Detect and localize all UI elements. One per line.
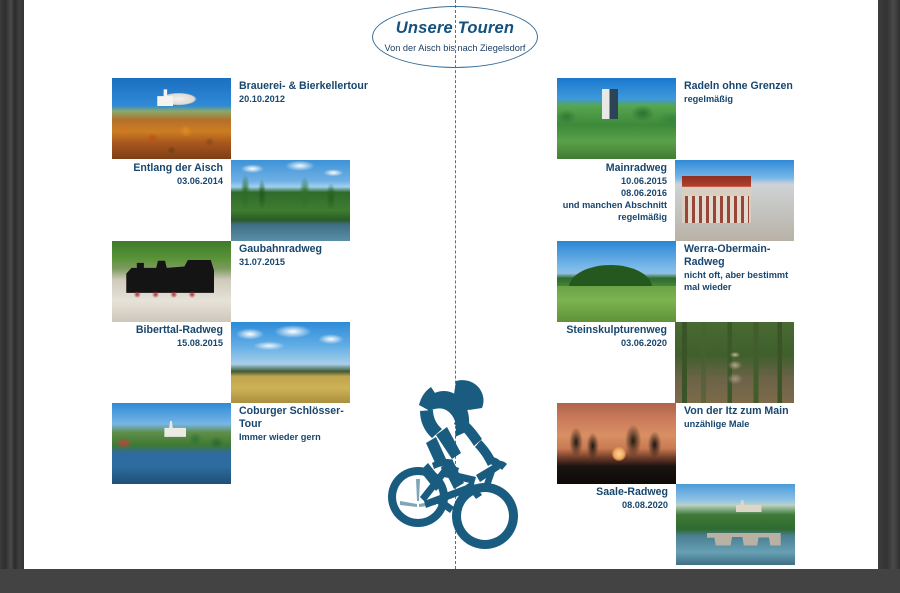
tour-caption: Werra-Obermain- Radweg nicht oft, aber b… [676, 241, 826, 293]
tour-photo-sunset-with-bare-trees [557, 403, 676, 484]
tour-name: Radeln ohne Grenzen [684, 80, 876, 93]
tour-name: Biberttal-Radweg [112, 324, 223, 337]
tour-caption: Von der Itz zum Main unzählige Male [676, 403, 826, 430]
window-bottom-edge [0, 569, 900, 593]
tour-caption: Brauerei- & Bierkellertour 20.10.2012 [231, 78, 431, 105]
tour-entry[interactable]: Steinskulpturenweg 03.06.2020 [535, 322, 794, 403]
tour-entry[interactable]: Biberttal-Radweg 15.08.2015 [112, 322, 350, 403]
tour-photo-river-with-trees [231, 160, 350, 241]
tour-photo-water-tower-on-meadow [557, 78, 676, 159]
tour-entry[interactable]: Mainradweg 10.06.2015 08.06.2016 und man… [439, 160, 794, 241]
tour-note: regelmäßig [684, 93, 876, 105]
mountain-biker-silhouette-icon [384, 371, 524, 557]
tour-photo-forested-hill [557, 241, 676, 322]
document-page: Unsere Touren Von der Aisch bis nach Zie… [24, 0, 878, 569]
tour-note: unzählige Male [684, 418, 826, 430]
tour-caption: Radeln ohne Grenzen regelmäßig [676, 78, 876, 105]
tour-note: 31.07.2015 [239, 256, 431, 268]
tour-caption: Gaubahnradweg 31.07.2015 [231, 241, 431, 268]
tour-note: 03.06.2014 [112, 175, 223, 187]
window-left-edge [0, 0, 24, 593]
tour-note: 20.10.2012 [239, 93, 431, 105]
tour-note: 10.06.2015 08.06.2016 und manchen Abschn… [439, 175, 667, 223]
tour-note: 08.08.2020 [557, 499, 668, 511]
tour-photo-castle-on-autumn-hill [112, 78, 231, 159]
page-title: Unsere Touren [373, 19, 537, 38]
tour-photo-black-locomotive-sculpture [112, 241, 231, 322]
header-badge: Unsere Touren Von der Aisch bis nach Zie… [372, 6, 538, 68]
screenshot-viewport: Unsere Touren Von der Aisch bis nach Zie… [0, 0, 900, 593]
tour-name: Brauerei- & Bierkellertour [239, 80, 431, 93]
tour-photo-castle-above-lake [112, 403, 231, 484]
tour-note: 15.08.2015 [112, 337, 223, 349]
tour-name: Entlang der Aisch [112, 162, 223, 175]
tour-entry[interactable]: Werra-Obermain- Radweg nicht oft, aber b… [557, 241, 826, 322]
tour-entry[interactable]: Radeln ohne Grenzen regelmäßig [557, 78, 876, 159]
tour-entry[interactable]: Gaubahnradweg 31.07.2015 [112, 241, 431, 322]
tour-caption: Mainradweg 10.06.2015 08.06.2016 und man… [439, 160, 675, 223]
tour-caption: Entlang der Aisch 03.06.2014 [112, 160, 231, 187]
tour-photo-stone-cairn-in-forest [675, 322, 794, 403]
tour-photo-half-timbered-town-hall [675, 160, 794, 241]
tour-caption: Biberttal-Radweg 15.08.2015 [112, 322, 231, 349]
tour-name: Von der Itz zum Main [684, 405, 826, 418]
tour-name: Steinskulpturenweg [535, 324, 667, 337]
tour-caption: Steinskulpturenweg 03.06.2020 [535, 322, 675, 349]
tour-photo-wheat-field-with-clouds [231, 322, 350, 403]
tour-entry[interactable]: Saale-Radweg 08.08.2020 [557, 484, 795, 565]
tour-note: 03.06.2020 [535, 337, 667, 349]
tour-entry[interactable]: Von der Itz zum Main unzählige Male [557, 403, 826, 484]
tour-photo-river-with-bridge [676, 484, 795, 565]
window-right-edge [878, 0, 900, 593]
tour-note: nicht oft, aber bestimmt mal wieder [684, 269, 826, 293]
tour-name: Gaubahnradweg [239, 243, 431, 256]
tour-entry[interactable]: Entlang der Aisch 03.06.2014 [112, 160, 350, 241]
tour-name: Werra-Obermain- Radweg [684, 243, 826, 269]
tour-caption: Saale-Radweg 08.08.2020 [557, 484, 676, 511]
tour-name: Mainradweg [439, 162, 667, 175]
page-subtitle: Von der Aisch bis nach Ziegelsdorf [373, 43, 537, 53]
tour-entry[interactable]: Brauerei- & Bierkellertour 20.10.2012 [112, 78, 431, 159]
tour-name: Saale-Radweg [557, 486, 668, 499]
